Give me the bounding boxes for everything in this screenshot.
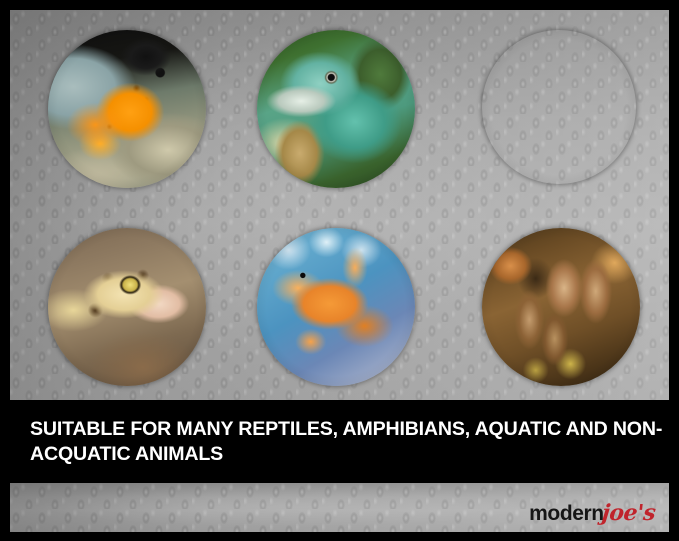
art-panel bbox=[10, 10, 669, 400]
tarantula-photo bbox=[482, 228, 640, 386]
headline-band: SUITABLE FOR MANY REPTILES, AMPHIBIANS, … bbox=[0, 400, 679, 483]
leopard-gecko-photo bbox=[48, 228, 206, 386]
gallery-circle-frog bbox=[48, 30, 206, 188]
brand-logo: modernjoe's bbox=[529, 500, 655, 526]
goldfish-photo bbox=[257, 228, 415, 386]
gallery-circle-leopard-gecko bbox=[48, 228, 206, 386]
brand-logo-primary: modern bbox=[529, 502, 604, 526]
footer-band: modernjoe's bbox=[10, 483, 669, 532]
gallery-circle-goldfish bbox=[257, 228, 415, 386]
brand-logo-accent: joe's bbox=[600, 500, 656, 526]
gallery-circle-water-dragon bbox=[257, 30, 415, 188]
gallery-circle-bearded-dragon bbox=[482, 30, 636, 184]
poison-dart-frog-photo bbox=[48, 30, 206, 188]
water-dragon-photo bbox=[257, 30, 415, 188]
headline-text: SUITABLE FOR MANY REPTILES, AMPHIBIANS, … bbox=[0, 417, 679, 467]
bearded-dragon-photo bbox=[482, 30, 636, 184]
product-banner: SUITABLE FOR MANY REPTILES, AMPHIBIANS, … bbox=[0, 0, 679, 541]
gallery-circle-tarantula bbox=[482, 228, 640, 386]
